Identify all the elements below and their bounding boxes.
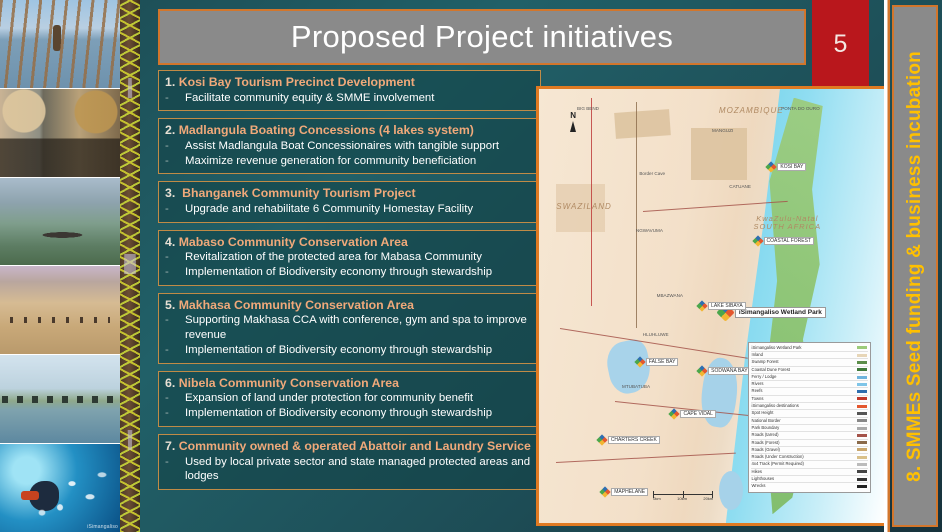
poi-diamond-icon xyxy=(766,161,777,172)
poi-diamond-icon xyxy=(600,487,611,498)
presentation-slide: iSimangaliso Proposed Project initiative… xyxy=(0,0,942,532)
initiative-number: 7. xyxy=(165,439,175,453)
initiative-bullet: -Maximize revenue generation for communi… xyxy=(165,154,534,169)
photo-hippo-lake-birds xyxy=(0,178,120,267)
poi-diamond-icon xyxy=(669,408,680,419)
initiative-number: 6. xyxy=(165,376,175,390)
list-item[interactable]: 3. Bhanganek Community Tourism Project -… xyxy=(158,181,541,222)
map-town-label: CATUANE xyxy=(729,184,751,189)
map-reserve-block xyxy=(614,109,671,139)
map-poi: COASTAL FOREST xyxy=(754,237,814,245)
bullet-dash-icon: - xyxy=(165,91,181,106)
legend-row: Ferry / Lodge xyxy=(751,374,869,381)
poi-diamond-icon xyxy=(696,365,707,376)
legend-row: Towns xyxy=(751,396,869,403)
list-item[interactable]: 4. Mabaso Community Conservation Area -R… xyxy=(158,230,541,286)
legend-row: iSimangaliso Wetland Park xyxy=(751,345,869,352)
initiatives-list: 1. Kosi Bay Tourism Precinct Development… xyxy=(158,70,541,497)
map-lake xyxy=(719,471,743,510)
initiative-title: Mabaso Community Conservation Area xyxy=(179,235,408,249)
slide-number-badge: 5 xyxy=(812,0,869,88)
photo-coastal-dunes-hikers xyxy=(0,266,120,355)
legend-row: Inland xyxy=(751,352,869,359)
photo-elephants-at-lake xyxy=(0,355,120,444)
side-banner-label: 8. SMMEs Seed funding & business incubat… xyxy=(904,51,926,482)
map-image[interactable]: N MOZAMBIQUE SWAZILAND KwaZulu-Natal SOU… xyxy=(536,86,888,526)
list-item[interactable]: 5. Makhasa Community Conservation Area -… xyxy=(158,293,541,364)
initiative-heading: 2. Madlangula Boating Concessions (4 lak… xyxy=(165,123,534,138)
map-scale-bar: 0km 10km 20km xyxy=(653,494,713,501)
bullet-dash-icon: - xyxy=(165,265,181,280)
map-road xyxy=(636,102,637,328)
map-poi: CAPE VIDAL xyxy=(670,410,715,418)
legend-row: Roads (tarred) xyxy=(751,432,869,439)
legend-row: Roads (Forest) xyxy=(751,440,869,447)
initiative-bullet: -Upgrade and rehabilitate 6 Community Ho… xyxy=(165,202,534,217)
legend-row: Reefs xyxy=(751,388,869,395)
initiative-bullet: -Expansion of land under protection for … xyxy=(165,391,534,406)
poi-diamond-icon xyxy=(752,235,763,246)
legend-row: Park Boundary xyxy=(751,425,869,432)
bullet-dash-icon: - xyxy=(165,391,181,406)
bullet-dash-icon: - xyxy=(165,154,181,169)
list-item[interactable]: 6. Nibela Community Conservation Area -E… xyxy=(158,371,541,427)
initiative-title: Makhasa Community Conservation Area xyxy=(179,298,414,312)
initiative-number: 5. xyxy=(165,298,175,312)
map-label-swaziland: SWAZILAND xyxy=(556,202,612,211)
map-poi: FALSE BAY xyxy=(636,358,679,366)
map-town-label: MANGUZI xyxy=(712,128,733,133)
map-town-label: Border Cave xyxy=(639,171,665,176)
initiative-title: Kosi Bay Tourism Precinct Development xyxy=(179,75,415,89)
initiative-bullet: -Supporting Makhasa CCA with conference,… xyxy=(165,313,534,343)
initiative-title: Nibela Community Conservation Area xyxy=(179,376,399,390)
legend-row: Swamp Forest xyxy=(751,359,869,366)
legend-row: Rivers xyxy=(751,381,869,388)
legend-row: Wrecks xyxy=(751,483,869,489)
initiative-heading: 3. Bhanganek Community Tourism Project xyxy=(165,186,534,201)
map-town-label: HLUHLUWE xyxy=(643,332,669,337)
bullet-dash-icon: - xyxy=(165,202,181,217)
initiative-heading: 7. Community owned & operated Abattoir a… xyxy=(165,439,534,454)
photo-kosi-bay-fish-traps xyxy=(0,0,120,89)
bullet-dash-icon: - xyxy=(165,250,181,265)
legend-row: Spot Height xyxy=(751,410,869,417)
poi-diamond-icon xyxy=(596,435,607,446)
poi-diamond-icon xyxy=(634,356,645,367)
initiative-heading: 1. Kosi Bay Tourism Precinct Development xyxy=(165,75,534,90)
list-item[interactable]: 1. Kosi Bay Tourism Precinct Development… xyxy=(158,70,541,111)
map-canvas: N MOZAMBIQUE SWAZILAND KwaZulu-Natal SOU… xyxy=(539,89,885,523)
initiative-bullet: -Implementation of Biodiversity economy … xyxy=(165,406,534,421)
watermark-label: iSimangaliso xyxy=(87,524,118,530)
poi-diamond-icon xyxy=(696,300,707,311)
initiative-heading: 5. Makhasa Community Conservation Area xyxy=(165,298,534,313)
map-poi: KOSI BAY xyxy=(767,163,806,171)
slide-number-value: 5 xyxy=(834,30,848,59)
map-park-label: iSimangaliso Wetland Park xyxy=(735,307,826,318)
beaded-border-decoration xyxy=(120,0,140,532)
slide-title-bar: Proposed Project initiatives xyxy=(158,9,806,65)
initiative-bullet: -Implementation of Biodiversity economy … xyxy=(165,265,534,280)
list-item[interactable]: 7. Community owned & operated Abattoir a… xyxy=(158,434,541,490)
page-title: Proposed Project initiatives xyxy=(291,19,673,55)
map-town-label: MBAZWANA xyxy=(657,293,683,298)
initiative-title: Madlangula Boating Concessions (4 lakes … xyxy=(179,123,474,137)
side-banner[interactable]: 8. SMMEs Seed funding & business incubat… xyxy=(892,5,938,527)
initiative-bullet: -Revitalization of the protected area fo… xyxy=(165,250,534,265)
bullet-dash-icon: - xyxy=(165,406,181,421)
legend-row: Roads (Gravel) xyxy=(751,447,869,454)
initiative-heading: 4. Mabaso Community Conservation Area xyxy=(165,235,534,250)
initiative-number: 1. xyxy=(165,75,175,89)
legend-row: Hikes xyxy=(751,469,869,476)
initiative-heading: 6. Nibela Community Conservation Area xyxy=(165,376,534,391)
north-arrow-icon: N xyxy=(570,111,576,132)
legend-row: Roads (Under Construction) xyxy=(751,454,869,461)
north-letter: N xyxy=(570,111,576,120)
map-town-label: MTUBATUBA xyxy=(622,384,650,389)
photo-big-five-wildlife xyxy=(0,89,120,178)
map-label-kwazulu-natal: KwaZulu-Natal SOUTH AFRICA xyxy=(754,215,822,232)
initiative-bullet: -Used by local private sector and state … xyxy=(165,455,534,485)
legend-row: iSimangaliso destinations xyxy=(751,403,869,410)
initiative-bullet: -Assist Madlangula Boat Concessionaires … xyxy=(165,139,534,154)
initiative-number: 3. xyxy=(165,186,175,200)
bullet-dash-icon: - xyxy=(165,343,181,358)
map-poi: CHARTERS CREEK xyxy=(598,436,660,444)
list-item[interactable]: 2. Madlangula Boating Concessions (4 lak… xyxy=(158,118,541,174)
map-poi: SODWANA BAY xyxy=(698,367,750,375)
bullet-dash-icon: - xyxy=(165,139,181,154)
initiative-number: 4. xyxy=(165,235,175,249)
map-road xyxy=(556,453,736,463)
map-reserve-block xyxy=(691,128,746,180)
right-divider xyxy=(884,0,890,532)
initiative-number: 2. xyxy=(165,123,175,137)
legend-row: 4x4 Track (Permit Required) xyxy=(751,461,869,468)
initiative-bullet: -Implementation of Biodiversity economy … xyxy=(165,343,534,358)
map-town-label: BIG BEND xyxy=(577,106,599,111)
photo-strip: iSimangaliso xyxy=(0,0,120,532)
map-town-label: PONTA DO OURO xyxy=(781,106,819,111)
initiative-title: Community owned & operated Abattoir and … xyxy=(179,439,531,453)
bullet-dash-icon: - xyxy=(165,455,181,485)
photo-scuba-diver-reef-fish: iSimangaliso xyxy=(0,444,120,532)
initiative-title: Bhanganek Community Tourism Project xyxy=(182,186,415,200)
map-town-label: NGWAVUMA xyxy=(636,228,663,233)
bullet-dash-icon: - xyxy=(165,313,181,343)
initiative-bullet: -Facilitate community equity & SMME invo… xyxy=(165,91,534,106)
legend-row: Lighthouses xyxy=(751,476,869,483)
map-poi: MAPHELANE xyxy=(601,488,648,496)
legend-row: Coastal Dune Forest xyxy=(751,367,869,374)
map-legend: iSimangaliso Wetland Park Inland Swamp F… xyxy=(748,342,872,493)
legend-row: National Border xyxy=(751,418,869,425)
map-poi: LAKE SIBAYA xyxy=(698,302,746,310)
map-label-mozambique: MOZAMBIQUE xyxy=(719,106,784,115)
